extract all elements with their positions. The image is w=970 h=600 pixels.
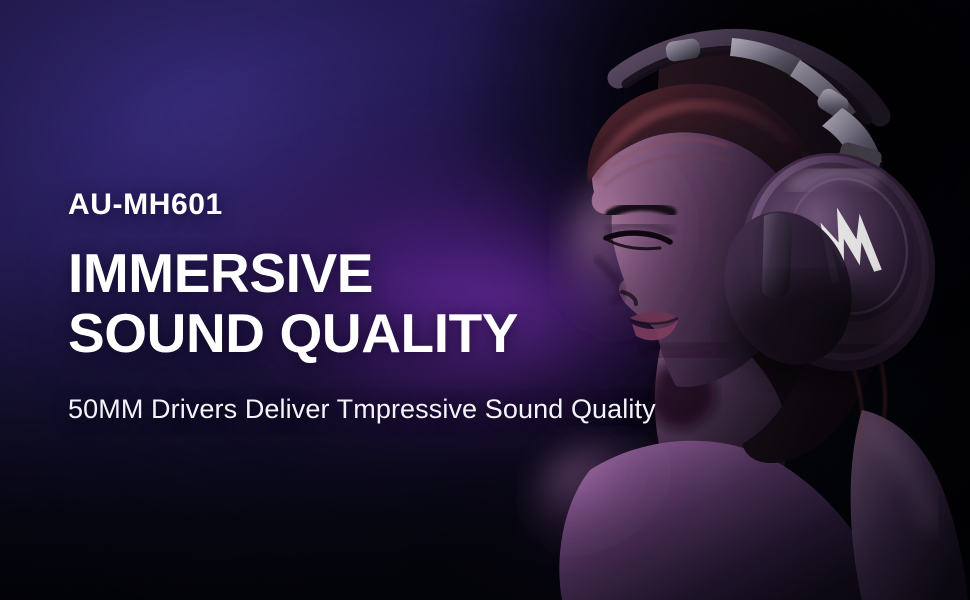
page-title: IMMERSIVE SOUND QUALITY bbox=[68, 246, 808, 361]
product-model-label: AU-MH601 bbox=[68, 190, 808, 220]
product-hero-banner: AU-MH601 IMMERSIVE SOUND QUALITY 50MM Dr… bbox=[0, 0, 970, 600]
banner-copy-block: AU-MH601 IMMERSIVE SOUND QUALITY 50MM Dr… bbox=[68, 190, 808, 425]
subheadline-text: 50MM Drivers Deliver Tmpressive Sound Qu… bbox=[68, 395, 808, 425]
headline-line-2: SOUND QUALITY bbox=[68, 306, 808, 360]
headline-line-1: IMMERSIVE bbox=[68, 242, 373, 304]
